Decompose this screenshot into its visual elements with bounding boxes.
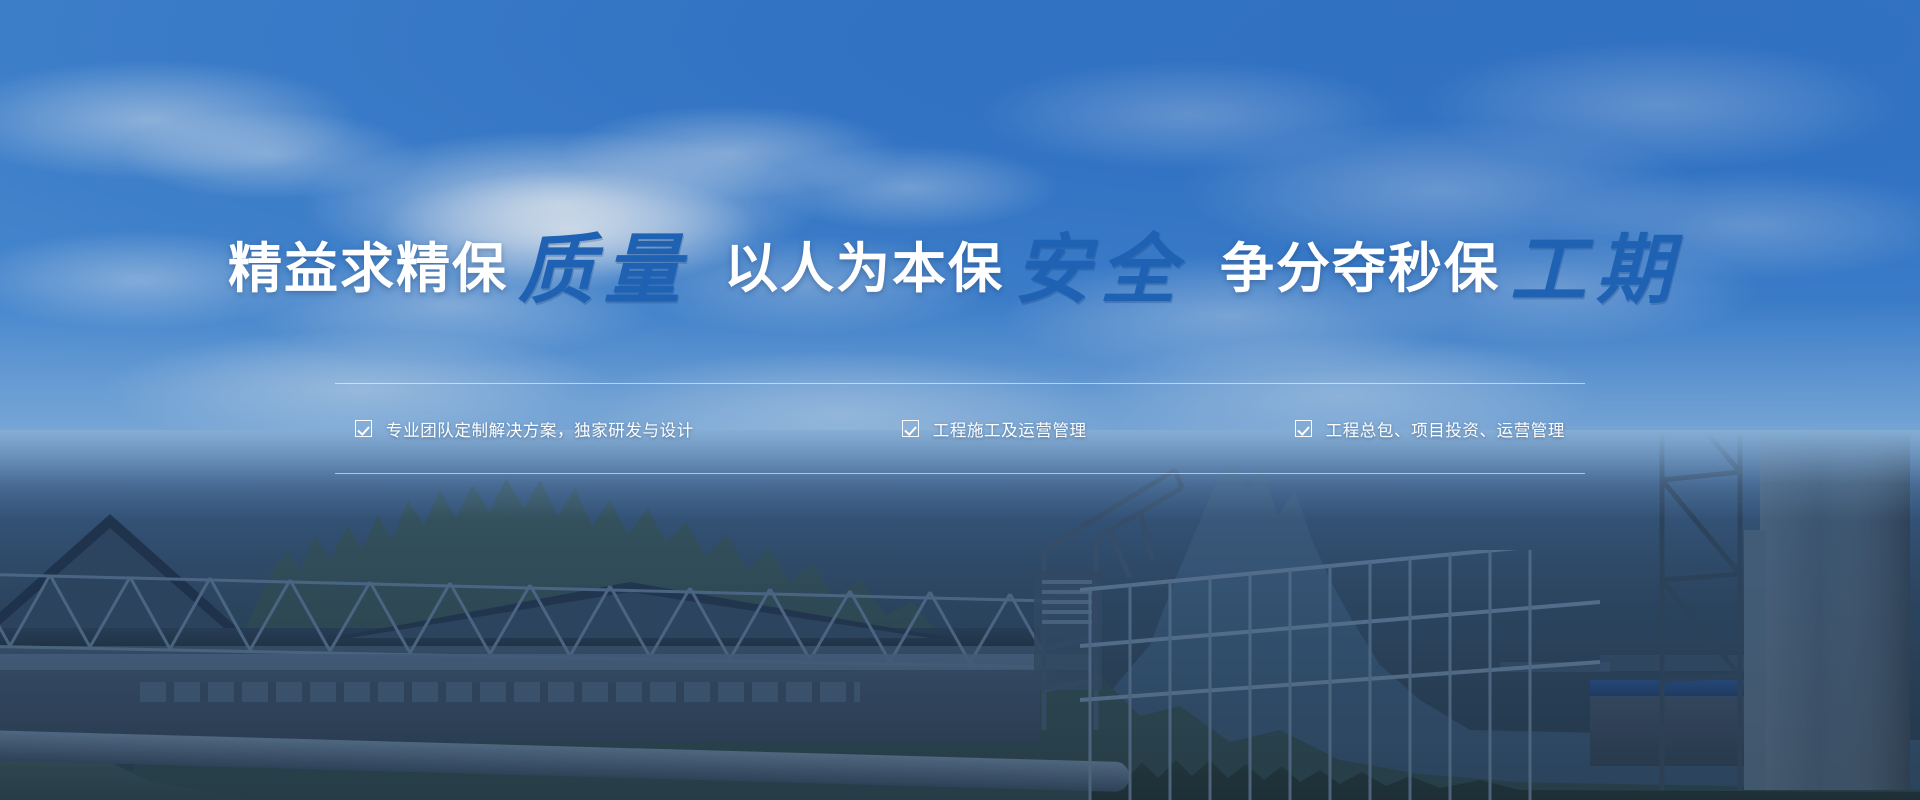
headline-segment-schedule: 工期 (1500, 208, 1692, 318)
headline-segment-schedule-prefix: 争分夺秒保 (1220, 224, 1500, 303)
industrial-plant-photo (0, 430, 1920, 800)
feature-label: 工程施工及运营管理 (933, 417, 1087, 441)
headline-segment-safety: 安全 (1004, 208, 1196, 318)
feature-strip: 专业团队定制解决方案，独家研发与设计 工程施工及运营管理 工程总包、项目投资、运… (335, 383, 1585, 474)
checkbox-checked-icon (902, 420, 919, 437)
checkbox-checked-icon (355, 420, 372, 437)
feature-label: 专业团队定制解决方案，独家研发与设计 (386, 417, 694, 441)
headline: 精益求精保 质量 以人为本保 安全 争分夺秒保 工期 (0, 208, 1920, 318)
feature-list: 专业团队定制解决方案，独家研发与设计 工程施工及运营管理 工程总包、项目投资、运… (335, 384, 1585, 473)
feature-item-construction[interactable]: 工程施工及运营管理 (902, 417, 1087, 441)
headline-segment-safety-prefix: 以人为本保 (724, 224, 1004, 303)
checkbox-checked-icon (1295, 420, 1312, 437)
headline-segment-quality: 质量 (508, 208, 700, 318)
headline-segment-quality-prefix: 精益求精保 (228, 224, 508, 303)
divider-bottom (335, 473, 1585, 474)
feature-item-epc[interactable]: 工程总包、项目投资、运营管理 (1295, 417, 1565, 441)
feature-label: 工程总包、项目投资、运营管理 (1326, 417, 1565, 441)
hero-banner: 精益求精保 质量 以人为本保 安全 争分夺秒保 工期 专业团队定制解决方案，独家… (0, 0, 1920, 800)
feature-item-solution[interactable]: 专业团队定制解决方案，独家研发与设计 (355, 417, 694, 441)
